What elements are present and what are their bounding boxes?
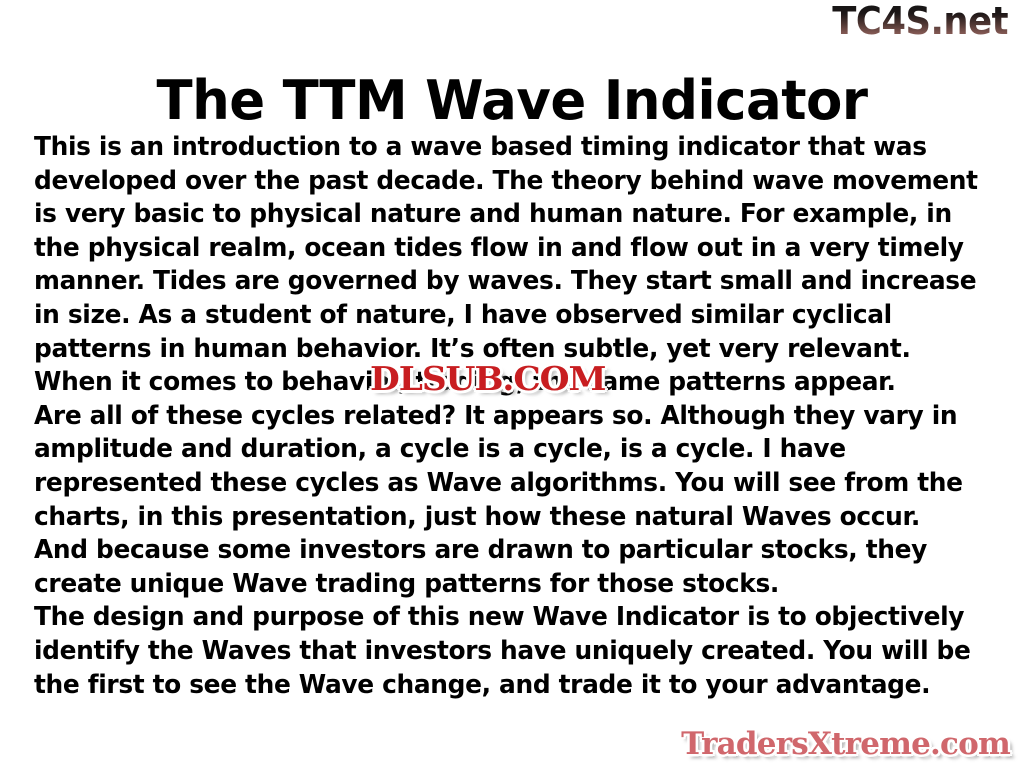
body-line: represented these cycles as Wave algorit… bbox=[34, 467, 970, 501]
body-line: This is an introduction to a wave based … bbox=[34, 131, 970, 165]
body-line: create unique Wave trading patterns for … bbox=[34, 568, 970, 602]
body-line: identify the Waves that investors have u… bbox=[34, 635, 970, 669]
body-line: manner. Tides are governed by waves. The… bbox=[34, 265, 970, 299]
page-title: The TTM Wave Indicator bbox=[10, 74, 1014, 128]
body-line: The design and purpose of this new Wave … bbox=[34, 601, 970, 635]
body-line: charts, in this presentation, just how t… bbox=[34, 501, 970, 535]
body-line: the physical realm, ocean tides flow in … bbox=[34, 232, 970, 266]
tradersxtreme-brand-logo: TradersXtreme.com bbox=[681, 729, 1010, 760]
body-line: developed over the past decade. The theo… bbox=[34, 165, 970, 199]
body-line: Are all of these cycles related? It appe… bbox=[34, 400, 970, 434]
body-line: And because some investors are drawn to … bbox=[34, 534, 970, 568]
body-line: the first to see the Wave change, and tr… bbox=[34, 669, 970, 703]
body-line: is very basic to physical nature and hum… bbox=[34, 198, 970, 232]
body-line: amplitude and duration, a cycle is a cyc… bbox=[34, 433, 970, 467]
body-line: in size. As a student of nature, I have … bbox=[34, 299, 970, 333]
slide-canvas: TC4S.net The TTM Wave Indicator This is … bbox=[0, 0, 1024, 768]
tc4s-brand-logo: TC4S.net bbox=[832, 2, 1008, 40]
body-text-block: This is an introduction to a wave based … bbox=[34, 131, 970, 702]
dlsub-watermark: DLSUB.COM bbox=[370, 362, 605, 395]
